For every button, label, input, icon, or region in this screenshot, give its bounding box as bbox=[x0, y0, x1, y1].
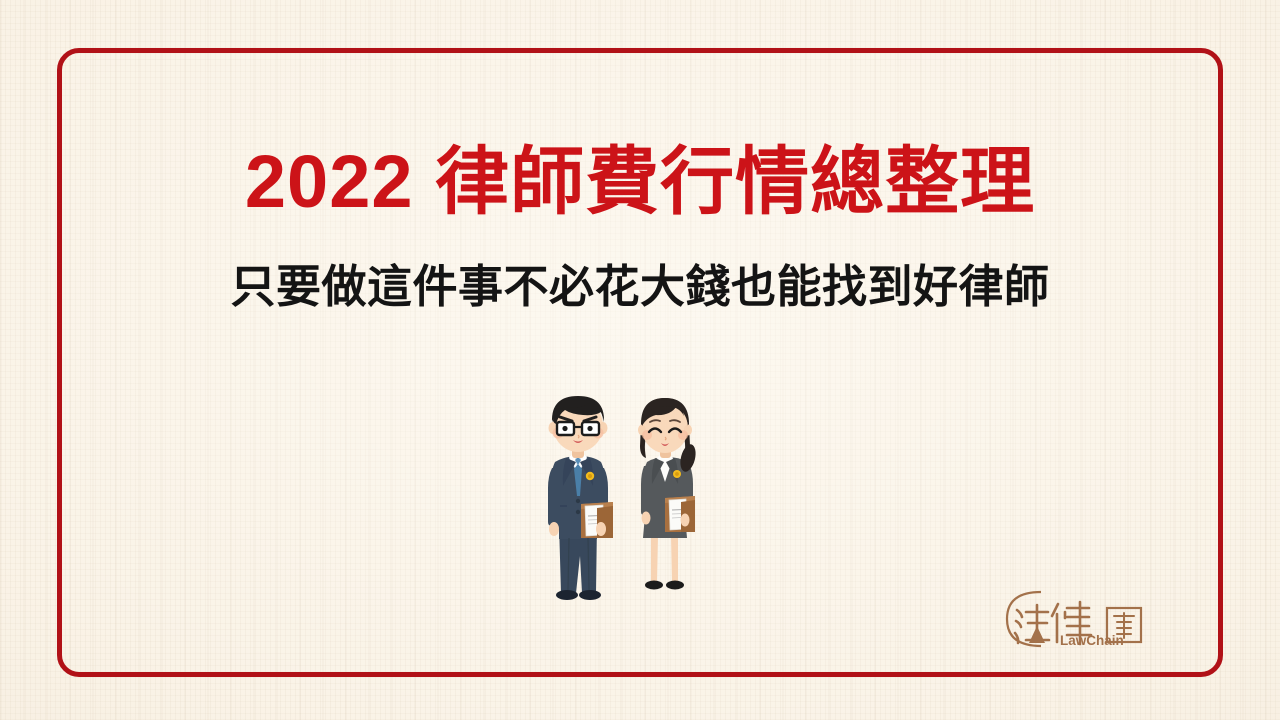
slide-canvas: 2022 律師費行情總整理 只要做這件事不必花大錢也能找到好律師 bbox=[0, 0, 1280, 720]
lawchain-logo[interactable]: LawChain bbox=[995, 588, 1165, 650]
male-lawyer-figure bbox=[548, 396, 613, 600]
logo-wordmark: LawChain bbox=[1060, 633, 1124, 648]
female-lawyer-figure bbox=[638, 398, 698, 590]
page-subtitle: 只要做這件事不必花大錢也能找到好律師 bbox=[0, 258, 1280, 316]
two-lawyers-illustration bbox=[533, 388, 723, 618]
female-folder bbox=[665, 496, 695, 532]
logo-triangle bbox=[1029, 626, 1045, 643]
page-title: 2022 律師費行情總整理 bbox=[0, 139, 1280, 225]
